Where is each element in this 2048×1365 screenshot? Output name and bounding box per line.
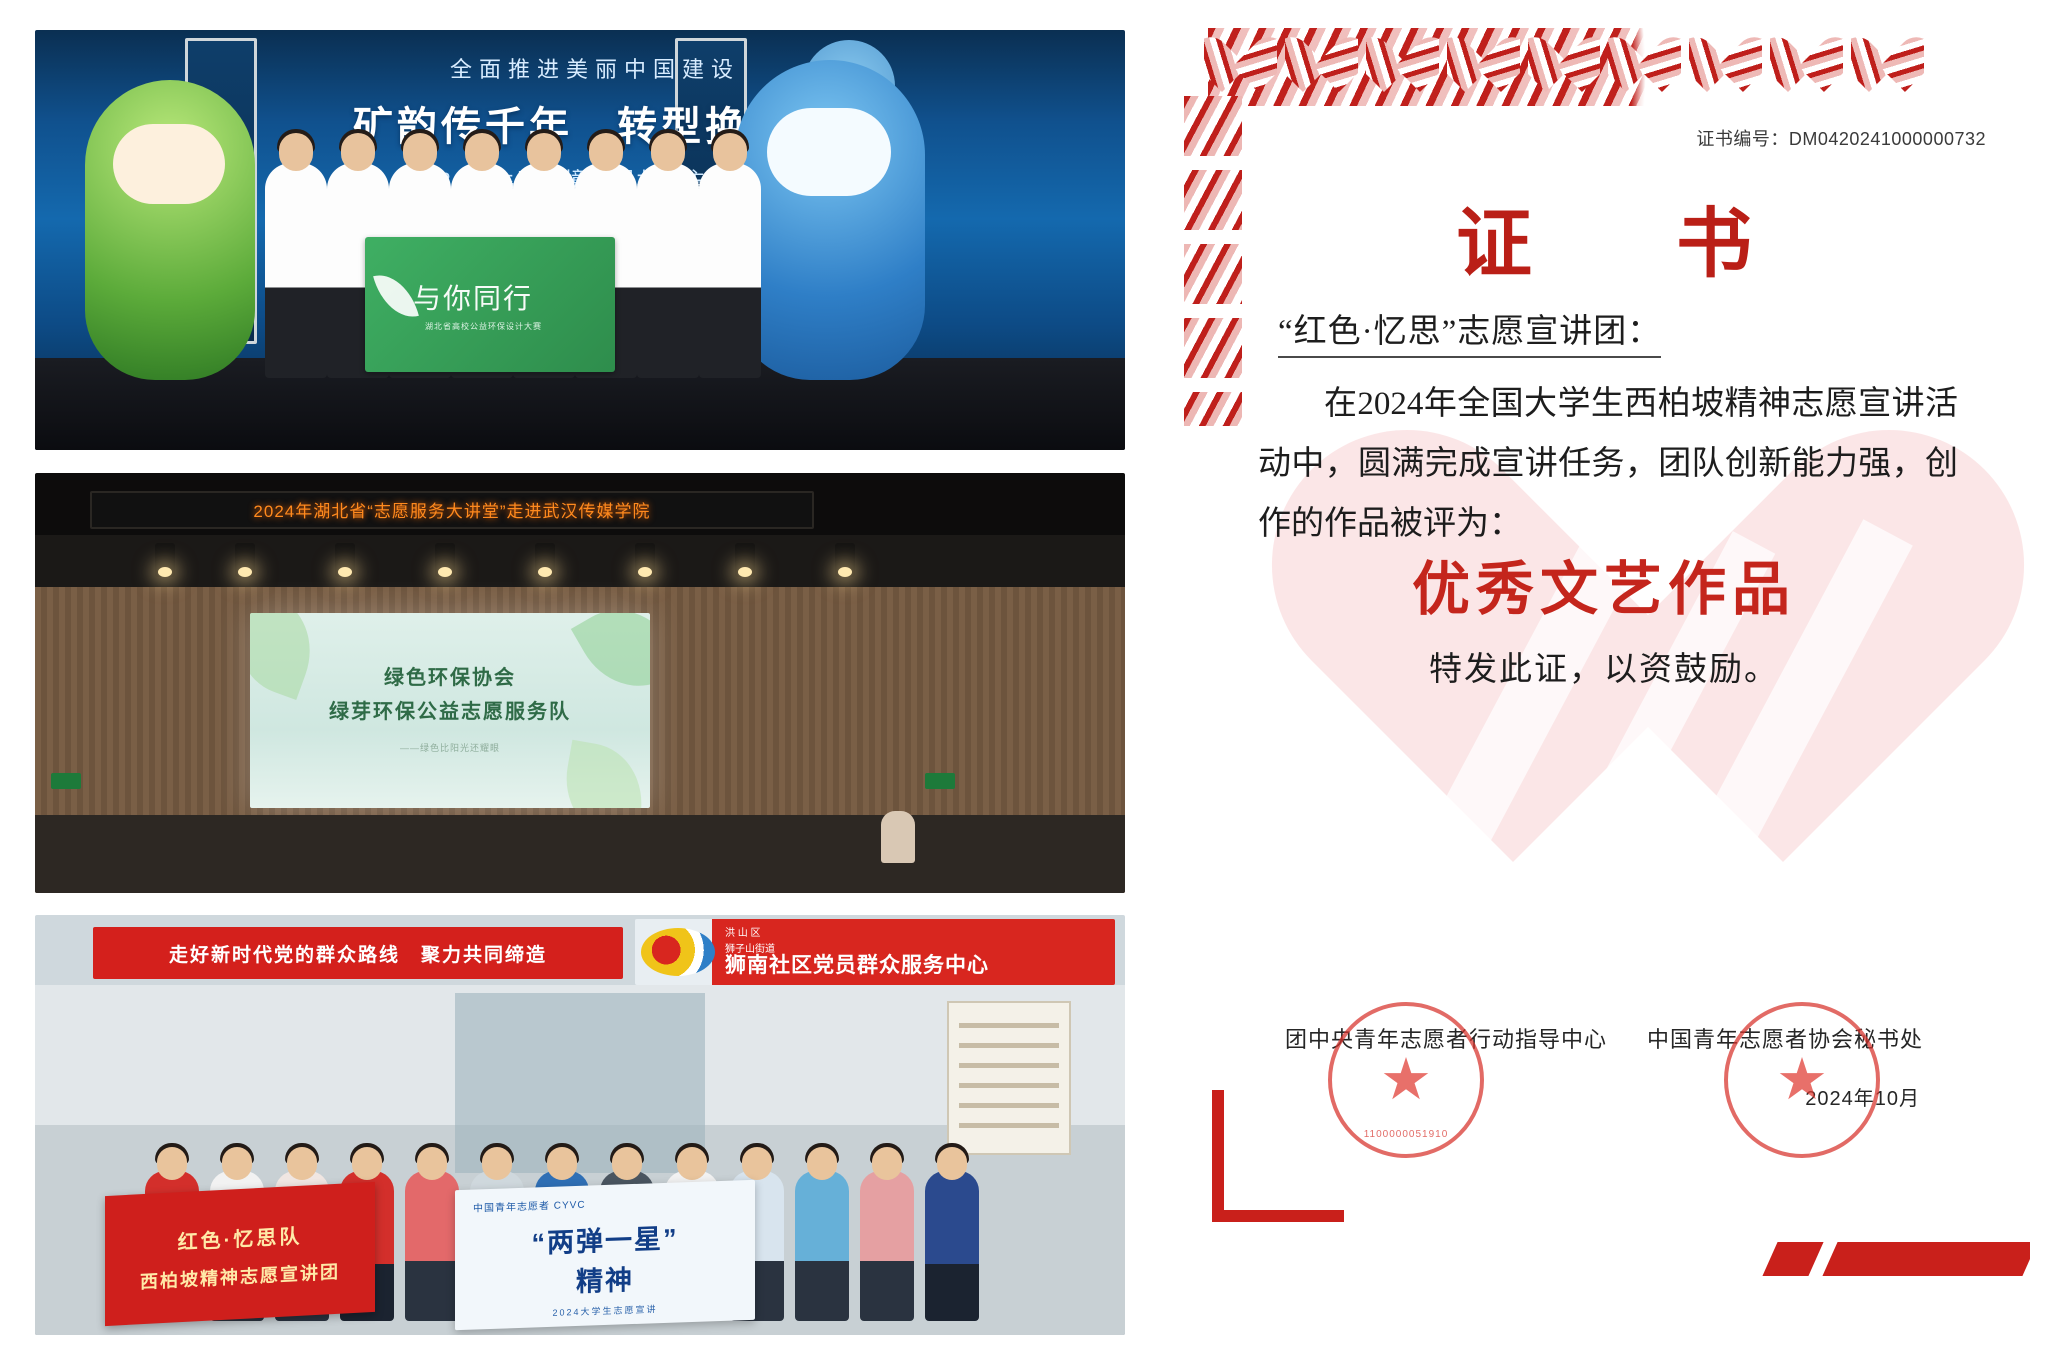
flag-sub-text: 湖北省高校公益环保设计大赛	[425, 321, 542, 332]
heart-icon	[1851, 26, 1924, 98]
heart-icon	[1285, 26, 1358, 98]
projection-screen: 绿色环保协会 绿芽环保公益志愿服务队 ——绿色比阳光还耀眼	[250, 613, 650, 808]
certificate-body-paragraph: 在2024年全国大学生西柏坡精神志愿宣讲活动中，圆满完成宣讲任务，团队创新能力强…	[1258, 374, 1958, 554]
spotlight-icon	[835, 543, 855, 577]
heart-icon	[1689, 26, 1762, 98]
official-seal-right: ★	[1724, 1002, 1880, 1158]
district-label: 洪 山 区	[725, 926, 989, 942]
certificate-number: 证书编号：DM0420241000000732	[1696, 125, 1986, 151]
spotlight-icon	[735, 543, 755, 577]
volunteer-person	[860, 1171, 914, 1321]
slide-line-1: 绿色环保协会	[250, 661, 650, 690]
volunteer-person	[925, 1171, 979, 1321]
spotlight-icon	[435, 543, 455, 577]
red-banner-line-1: 红色·忆思队	[105, 1216, 375, 1259]
party-slogan-sign: 走好新时代党的群众路线 聚力共同缔造	[93, 927, 623, 979]
volunteer-person	[795, 1171, 849, 1321]
ceiling-light-bar	[35, 543, 1125, 583]
corner-bar	[1762, 1242, 1823, 1276]
notice-board	[947, 1001, 1071, 1155]
group-member	[265, 163, 327, 378]
certificate-award-title: 优秀文艺作品	[1178, 542, 2030, 626]
heart-icon	[1770, 26, 1843, 98]
auditorium-floor	[35, 815, 1125, 893]
spotlight-icon	[235, 543, 255, 577]
leaf-decoration-icon	[571, 613, 650, 707]
photo-environment-day: 全面推进美丽中国建设 矿韵传千年 转型换新颜 2024年六五环境日湖北省主场活动…	[35, 30, 1125, 450]
group-member	[637, 163, 699, 378]
led-banner: 2024年湖北省“志愿服务大讲堂”走进武汉传媒学院	[90, 491, 814, 529]
certificate-body: 在2024年全国大学生西柏坡精神志愿宣讲活动中，圆满完成宣讲任务，团队创新能力强…	[1258, 374, 1958, 554]
certificate-title: 证 书	[1178, 182, 2030, 292]
green-banner-flag: 与你同行 湖北省高校公益环保设计大赛	[365, 237, 615, 372]
header-heart-pattern	[1204, 26, 1924, 106]
community-center-sign-text: 洪 山 区 狮子山街道 狮南社区党员群众服务中心	[725, 926, 989, 978]
group-member	[699, 163, 761, 378]
signatory-row: 团中央青年志愿者行动指导中心 中国青年志愿者协会秘书处	[1178, 1022, 2030, 1054]
red-banner-line-2: 西柏坡精神志愿宣讲团	[105, 1256, 375, 1296]
spotlight-icon	[635, 543, 655, 577]
mascot-eye-right	[181, 146, 200, 170]
certificate-salutation: “红色·忆思”志愿宣讲团：	[1278, 304, 1661, 358]
party-emblem-icon	[641, 928, 715, 976]
white-banner-top-text: 中国青年志愿者 CYVC	[473, 1196, 586, 1215]
screenshot-root: 全面推进美丽中国建设 矿韵传千年 转型换新颜 2024年六五环境日湖北省主场活动…	[0, 0, 2048, 1365]
seal-code-left: 1100000051910	[1332, 1129, 1480, 1140]
heart-icon	[1447, 26, 1520, 98]
heart-icon	[1528, 26, 1601, 98]
heart-icon	[1366, 26, 1439, 98]
exit-sign-icon	[925, 773, 955, 789]
green-mascot-icon	[85, 80, 255, 380]
mascot-eye-right	[841, 132, 862, 158]
white-team-banner: 中国青年志愿者 CYVC “两弹一星” 精神 2024大学生志愿宣讲	[455, 1180, 755, 1330]
exit-sign-icon	[51, 773, 81, 789]
flag-main-text: 与你同行	[413, 277, 533, 317]
certificate-document: 证书编号：DM0420241000000732 证 书 “红色·忆思”志愿宣讲团…	[1178, 22, 2030, 1342]
official-seal-left: ★ 1100000051910	[1328, 1002, 1484, 1158]
mascot-eye-left	[139, 146, 158, 170]
center-name: 狮南社区党员群众服务中心	[725, 954, 989, 977]
certificate-column: 证书编号：DM0420241000000732 证 书 “红色·忆思”志愿宣讲团…	[1160, 0, 2048, 1365]
spotlight-icon	[335, 543, 355, 577]
slide-line-3: ——绿色比阳光还耀眼	[250, 741, 650, 754]
white-banner-bottom-text: 2024大学生志愿宣讲	[455, 1299, 755, 1322]
party-slogan-text: 走好新时代党的群众路线 聚力共同缔造	[169, 940, 547, 967]
spotlight-icon	[535, 543, 555, 577]
blue-mascot-icon	[735, 60, 925, 380]
photo-community-center: 走好新时代党的群众路线 聚力共同缔造 洪 山 区 狮子山街道 狮南社区党员群众服…	[35, 915, 1125, 1335]
star-icon: ★	[1776, 1051, 1828, 1109]
corner-decoration-bottom-right	[1730, 1226, 2030, 1296]
corner-bar	[1822, 1242, 2030, 1276]
volunteer-person	[405, 1171, 459, 1321]
heart-icon	[1204, 26, 1277, 98]
red-team-banner: 红色·忆思队 西柏坡精神志愿宣讲团	[105, 1182, 375, 1326]
photo-auditorium-lecture: 2024年湖北省“志愿服务大讲堂”走进武汉传媒学院 绿色环保协会 绿芽环保公益志…	[35, 473, 1125, 893]
led-banner-text: 2024年湖北省“志愿服务大讲堂”走进武汉传媒学院	[253, 497, 650, 522]
star-icon: ★	[1380, 1051, 1432, 1109]
certificate-closing: 特发此证，以资鼓励。	[1178, 642, 2030, 690]
corner-decoration-bottom-left	[1212, 1090, 1344, 1222]
spotlight-icon	[155, 543, 175, 577]
heart-icon	[1608, 26, 1681, 98]
photo-collage-column: 全面推进美丽中国建设 矿韵传千年 转型换新颜 2024年六五环境日湖北省主场活动…	[0, 0, 1160, 1365]
slide-line-2: 绿芽环保公益志愿服务队	[250, 695, 650, 724]
seated-attendee	[881, 811, 915, 863]
community-center-sign: 洪 山 区 狮子山街道 狮南社区党员群众服务中心	[635, 919, 1115, 985]
mascot-eye-left	[795, 132, 816, 158]
